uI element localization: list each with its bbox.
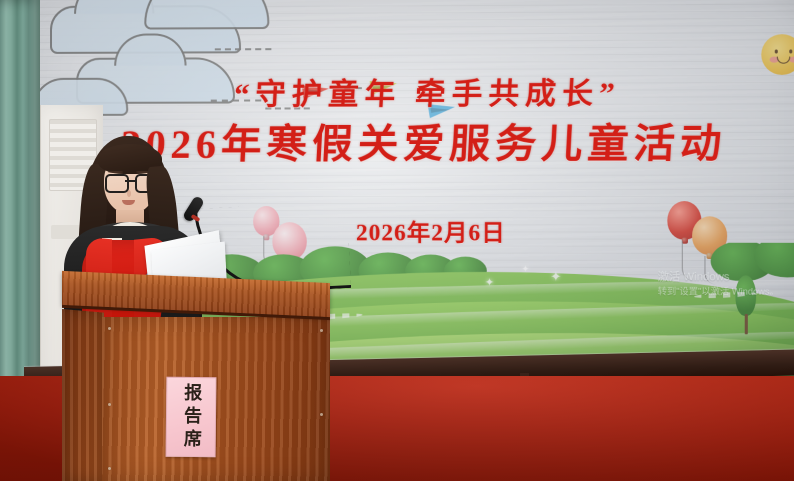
podium-side-panel <box>62 309 104 481</box>
photo-scene: ✦ ✦ ✦ “守护童年 牵手共成长” 2026年寒假关爱服务儿童活动 2026年… <box>0 0 794 481</box>
podium-sign: 报告席 <box>166 377 217 458</box>
podium-sign-text: 报告席 <box>182 382 201 451</box>
nose <box>127 190 131 197</box>
speaking-podium: 报告席 <box>62 277 330 481</box>
podium-desktop <box>62 271 330 317</box>
eyebrow-left <box>108 171 123 173</box>
